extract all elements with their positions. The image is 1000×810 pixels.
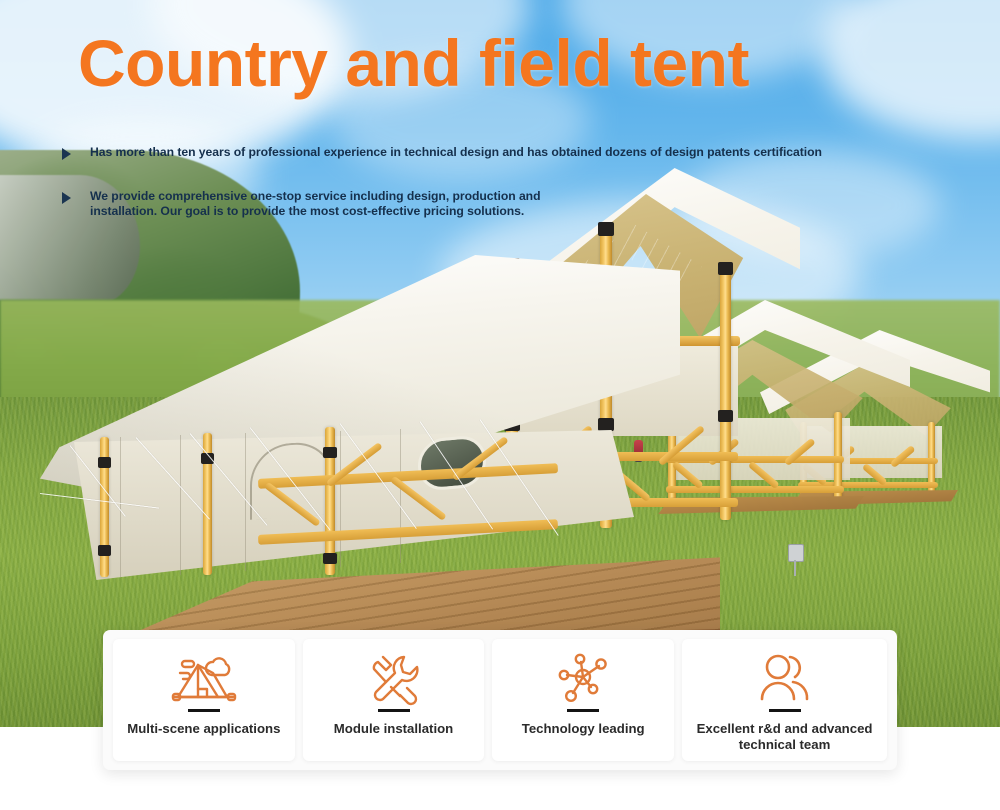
tools-icon <box>364 651 424 707</box>
feature-label: Excellent r&d and advanced technical tea… <box>682 721 887 752</box>
card-divider <box>188 709 220 712</box>
wall-seam <box>340 431 341 567</box>
pole-cap <box>323 553 337 564</box>
card-divider <box>567 709 599 712</box>
garden-lamp <box>788 544 804 562</box>
feature-card-rd-team[interactable]: Excellent r&d and advanced technical tea… <box>682 639 887 761</box>
tent-icon <box>167 651 241 707</box>
wall-seam <box>120 437 121 577</box>
feature-label: Multi-scene applications <box>127 721 280 737</box>
feature-card-multi-scene[interactable]: Multi-scene applications <box>113 639 295 761</box>
card-divider <box>378 709 410 712</box>
triangle-bullet-icon <box>62 148 71 160</box>
triangle-bullet-icon <box>62 192 71 204</box>
promo-banner-page: Country and field tent Has more than ten… <box>0 0 1000 810</box>
feature-label: Technology leading <box>522 721 645 737</box>
tent-wall <box>74 430 634 580</box>
card-divider <box>769 709 801 712</box>
feature-card-technology-leading[interactable]: Technology leading <box>492 639 674 761</box>
wall-seam <box>180 435 181 575</box>
bullet-text: Has more than ten years of professional … <box>90 145 822 161</box>
lamp-post <box>794 560 796 576</box>
team-icon <box>757 651 813 707</box>
bullet-text: We provide comprehensive one-stop servic… <box>90 189 560 220</box>
pole-cap <box>98 457 111 468</box>
hero-photo <box>0 0 1000 727</box>
wall-seam <box>400 429 401 563</box>
feature-label: Module installation <box>334 721 453 737</box>
bullet-item: Has more than ten years of professional … <box>62 145 922 161</box>
tent-main <box>40 175 760 625</box>
page-title: Country and field tent <box>78 30 749 96</box>
feature-card-strip: Multi-scene applications Module installa… <box>103 630 897 770</box>
bullet-item: We provide comprehensive one-stop servic… <box>62 189 922 220</box>
bullet-list: Has more than ten years of professional … <box>62 145 922 220</box>
pole-cap <box>323 447 337 458</box>
feature-card-module-installation[interactable]: Module installation <box>303 639 485 761</box>
molecule-icon <box>555 651 611 707</box>
pole-cap <box>98 545 111 556</box>
